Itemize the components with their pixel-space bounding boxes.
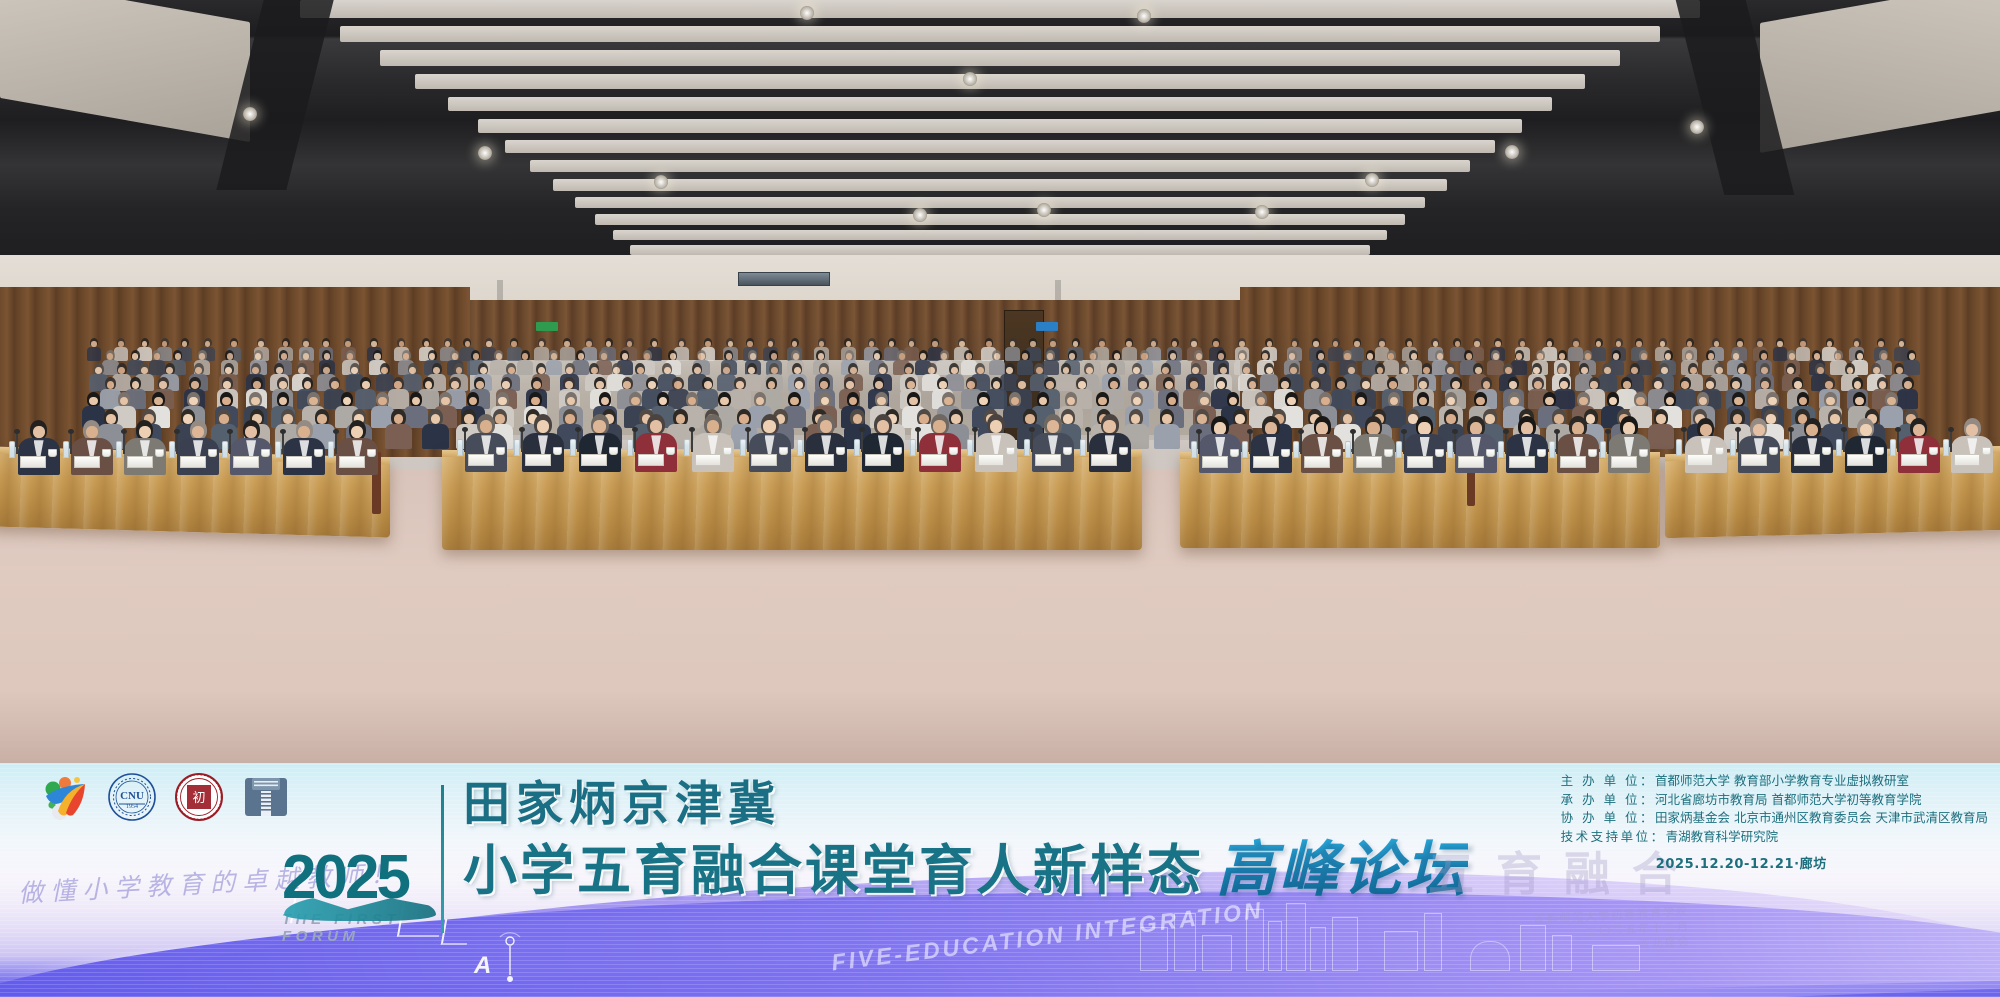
city-skyline-decor <box>1140 899 1700 971</box>
ceiling-light <box>478 146 492 160</box>
title-line-2-main: 小学五育融合课堂育人新样态 <box>463 840 1204 902</box>
organizer-value: 河北省廊坊市教育局 首都师范大学初等教育学院 <box>1655 792 1921 807</box>
svg-text:1954: 1954 <box>126 804 138 810</box>
organizer-block: 主 办 单 位：首都师范大学 教育部小学教育专业虚拟教研室 承 办 单 位：河北… <box>1561 772 1988 875</box>
ceiling-light <box>913 208 927 222</box>
cnu-primary-education-logo: 初 <box>174 772 224 822</box>
organizer-value: 青湖教育科学研究院 <box>1666 829 1779 844</box>
organizer-row: 承 办 单 位：河北省廊坊市教育局 首都师范大学初等教育学院 <box>1561 791 1988 810</box>
year-logo: 2025 THE FIRST FORUM <box>282 847 452 947</box>
ceiling-light <box>1037 203 1051 217</box>
organizer-row: 协 办 单 位：田家炳基金会 北京市通州区教育委员会 天津市武清区教育局 <box>1561 809 1988 828</box>
ceiling-light <box>1365 173 1379 187</box>
organizer-label: 主 办 单 位： <box>1561 773 1655 788</box>
ceiling-light <box>1505 145 1519 159</box>
wall-screen <box>738 272 830 286</box>
tjb-foundation-logo <box>40 772 90 822</box>
qinghu-institute-logo <box>241 772 291 822</box>
organizer-row: 技术支持单位：青湖教育科学研究院 <box>1561 828 1988 847</box>
svg-text:初: 初 <box>192 791 205 806</box>
banner-title: 田家炳京津冀 小学五育融合课堂育人新样态 高峰论坛 <box>463 777 1468 902</box>
ceiling-light <box>243 107 257 121</box>
title-line-1: 田家炳京津冀 <box>463 777 1468 833</box>
svg-text:A: A <box>473 952 491 979</box>
organizer-value: 田家炳基金会 北京市通州区教育委员会 天津市武清区教育局 <box>1655 810 1988 825</box>
event-banner: CNU 1954 初 <box>0 763 2000 997</box>
cnu-logo: CNU 1954 <box>107 772 157 822</box>
ceiling-light <box>963 72 977 86</box>
event-date-location: 2025.12.20-12.21·廊坊 <box>1561 856 1988 875</box>
svg-text:CNU: CNU <box>120 790 144 802</box>
ceiling-light <box>1137 9 1151 23</box>
organizer-row: 主 办 单 位：首都师范大学 教育部小学教育专业虚拟教研室 <box>1561 772 1988 791</box>
organizer-label: 承 办 单 位： <box>1561 792 1655 807</box>
logo-row: CNU 1954 初 <box>40 772 291 822</box>
organizer-label: 技术支持单位： <box>1561 829 1666 844</box>
ceiling-light <box>654 175 668 189</box>
ceiling-light <box>1255 205 1269 219</box>
title-divider <box>441 785 444 933</box>
ai-icon: A <box>470 927 530 989</box>
organizer-label: 协 办 单 位： <box>1561 810 1655 825</box>
conference-photo <box>0 0 2000 763</box>
ceiling-light <box>800 6 814 20</box>
screenshot-root: CNU 1954 初 <box>0 0 2000 997</box>
ceiling-light <box>1690 120 1704 134</box>
organizer-value: 首都师范大学 教育部小学教育专业虚拟教研室 <box>1655 773 1909 788</box>
